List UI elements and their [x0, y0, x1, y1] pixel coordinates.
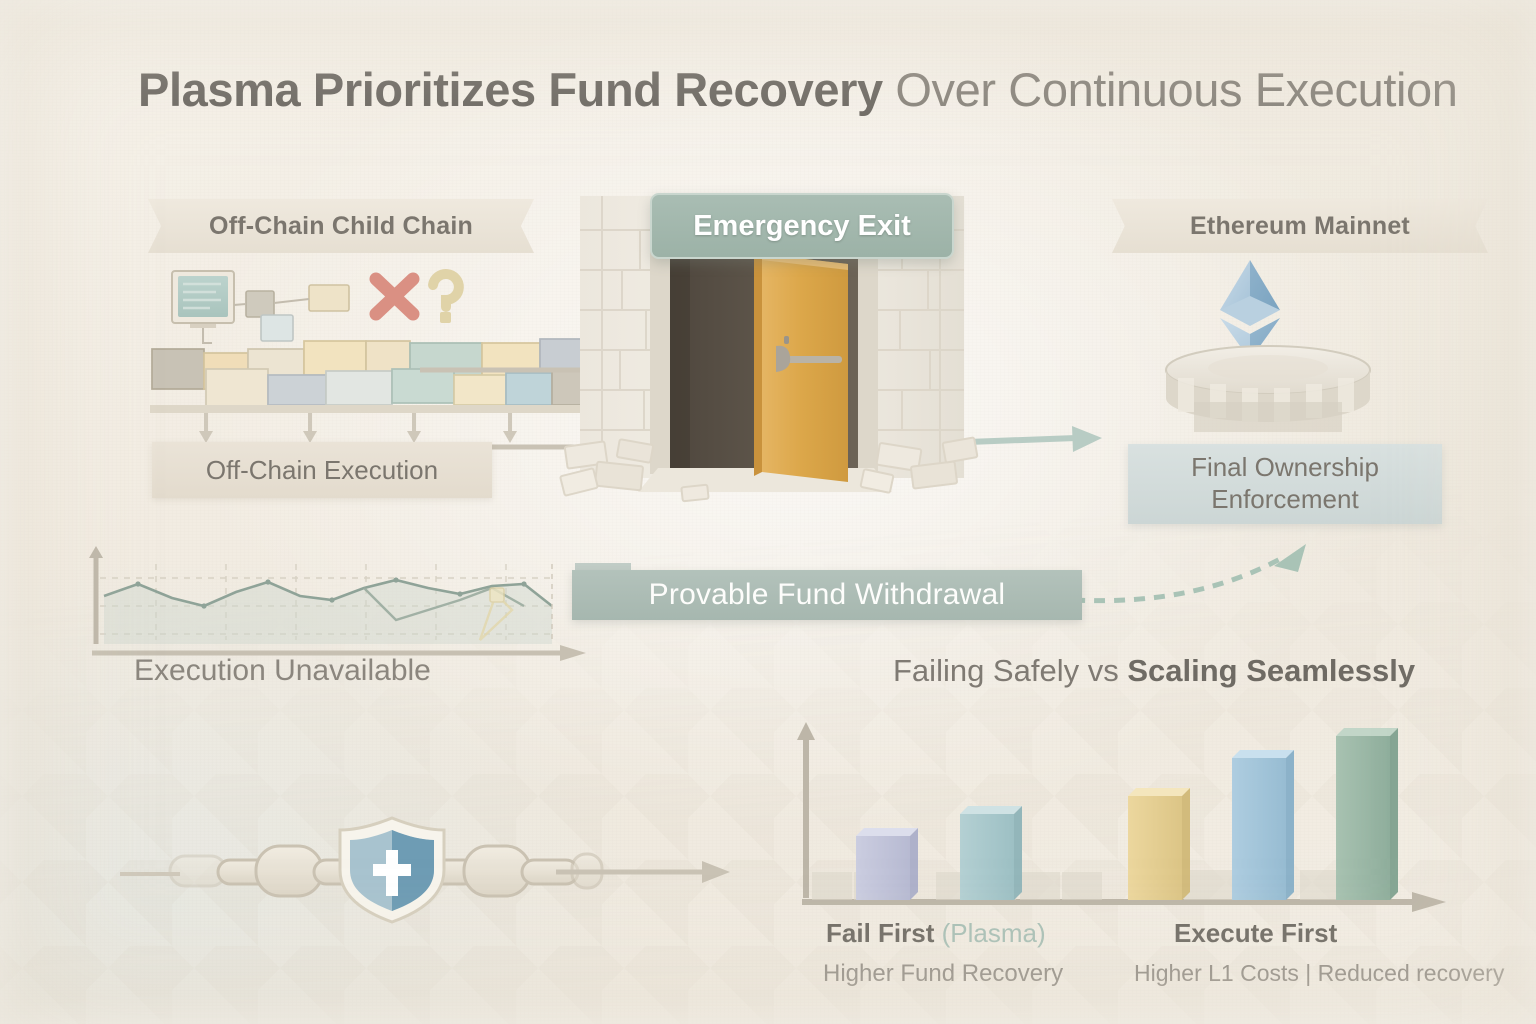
question-mark-icon [433, 274, 459, 307]
legend-execute-first-title: Execute First [1174, 918, 1337, 949]
off-chain-execution-label: Off-Chain Execution [206, 455, 438, 486]
fail-vs-execute-bar-chart [788, 712, 1458, 912]
flow-arrow-exit-to-mainnet [968, 420, 1108, 460]
ribbon-off-chain-child-chain: Off-Chain Child Chain [148, 199, 534, 253]
legend-fail-first-strong: Fail First [826, 918, 934, 948]
final-ownership-line-1: Final Ownership [1191, 452, 1379, 484]
legend-execute-first-subtitle: Higher L1 Costs | Reduced recovery [1134, 960, 1504, 987]
emergency-exit-label: Emergency Exit [693, 210, 911, 243]
plate-off-chain-execution: Off-Chain Execution [152, 442, 492, 498]
legend-fail-first-title: Fail First (Plasma) [826, 918, 1046, 949]
chain-shield-illustration [176, 812, 596, 928]
emergency-exit-sign: Emergency Exit [650, 193, 954, 259]
ribbon-mainnet-label: Ethereum Mainnet [1190, 212, 1410, 241]
ethereum-pedestal-illustration [1158, 252, 1408, 442]
final-ownership-line-2: Enforcement [1191, 484, 1379, 516]
legend-fail-first-tag: (Plasma) [934, 918, 1045, 948]
chain-right-arrow [556, 858, 736, 886]
dashed-rising-arrow [1068, 528, 1328, 614]
ethereum-diamond-icon [1220, 260, 1280, 360]
caption-failing-vs-scaling: Failing Safely vs Scaling Seamlessly [893, 653, 1415, 689]
plate-final-ownership-enforcement: Final Ownership Enforcement [1128, 444, 1442, 524]
execution-unavailable-line-chart [86, 548, 596, 668]
ribbon-ethereum-mainnet: Ethereum Mainnet [1112, 199, 1488, 253]
page-title: Plasma Prioritizes Fund Recovery Over Co… [138, 62, 1468, 126]
caption-failing-safely: Failing Safely vs [893, 653, 1127, 688]
legend-fail-first-subtitle: Higher Fund Recovery [823, 960, 1063, 988]
bar-provable-fund-withdrawal: Provable Fund Withdrawal [572, 570, 1082, 620]
shield-check-icon [340, 818, 444, 922]
page-title-regular: Over Continuous Execution [883, 63, 1458, 116]
infographic-canvas: Plasma Prioritizes Fund Recovery Over Co… [0, 0, 1536, 1024]
provable-fund-withdrawal-label: Provable Fund Withdrawal [649, 578, 1006, 612]
page-title-bold: Plasma Prioritizes Fund Recovery [138, 63, 883, 116]
caption-execution-unavailable: Execution Unavailable [134, 654, 431, 688]
chain-left-arrow [120, 862, 190, 886]
red-cross-icon [376, 279, 413, 314]
ribbon-child-chain-label: Off-Chain Child Chain [209, 212, 473, 241]
caption-scaling-seamlessly: Scaling Seamlessly [1127, 653, 1415, 688]
off-chain-block-cluster [150, 265, 620, 435]
